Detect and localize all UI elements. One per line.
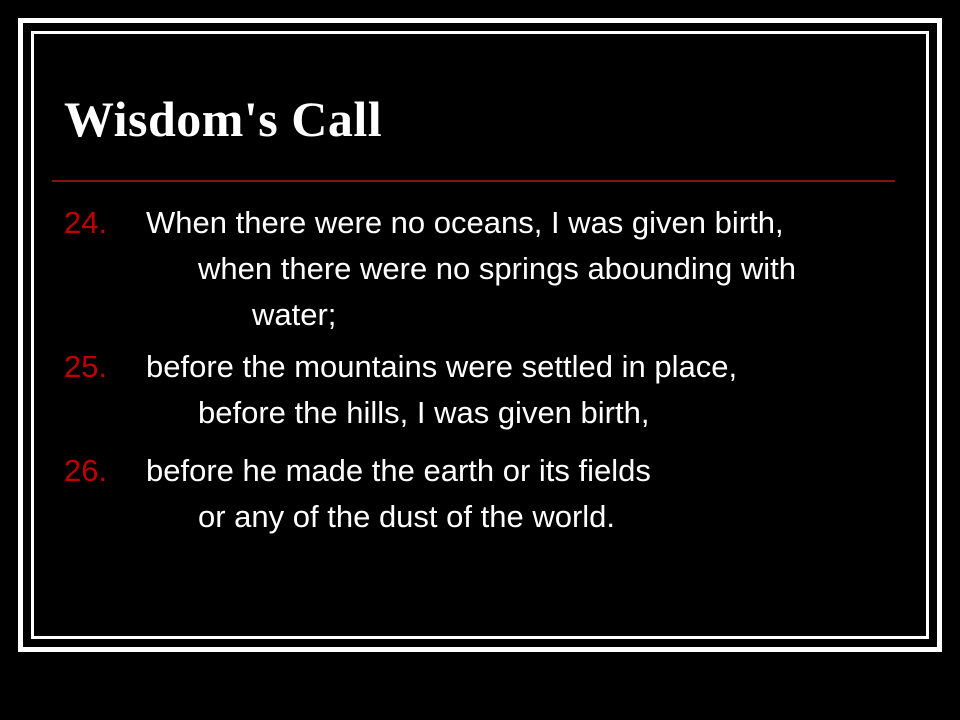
verse-number: 26. — [64, 448, 146, 494]
verse-line: before he made the earth or its fields — [146, 448, 651, 494]
verse-first-row: 25.before the mountains were settled in … — [64, 344, 908, 390]
verse-item: 25.before the mountains were settled in … — [64, 344, 908, 436]
verse-first-row: 24.When there were no oceans, I was give… — [64, 200, 908, 246]
verse-number: 25. — [64, 344, 146, 390]
verse-list: 24.When there were no oceans, I was give… — [64, 200, 908, 540]
verse-item: 26.before he made the earth or its field… — [64, 448, 908, 540]
verse-line: When there were no oceans, I was given b… — [146, 200, 784, 246]
slide-title: Wisdom's Call — [64, 90, 908, 148]
verse-line: before the mountains were settled in pla… — [146, 344, 737, 390]
slide-content: Wisdom's Call 24.When there were no ocea… — [52, 52, 908, 618]
verse-first-row: 26.before he made the earth or its field… — [64, 448, 908, 494]
verse-number: 24. — [64, 200, 146, 246]
title-divider-rule — [52, 180, 895, 182]
verse-line: water; — [64, 292, 908, 338]
verse-line: before the hills, I was given birth, — [64, 390, 908, 436]
verse-line: or any of the dust of the world. — [64, 494, 908, 540]
verse-item: 24.When there were no oceans, I was give… — [64, 200, 908, 338]
verse-line: when there were no springs abounding wit… — [64, 246, 908, 292]
title-block: Wisdom's Call — [64, 90, 908, 148]
presentation-slide: Wisdom's Call 24.When there were no ocea… — [0, 0, 960, 720]
